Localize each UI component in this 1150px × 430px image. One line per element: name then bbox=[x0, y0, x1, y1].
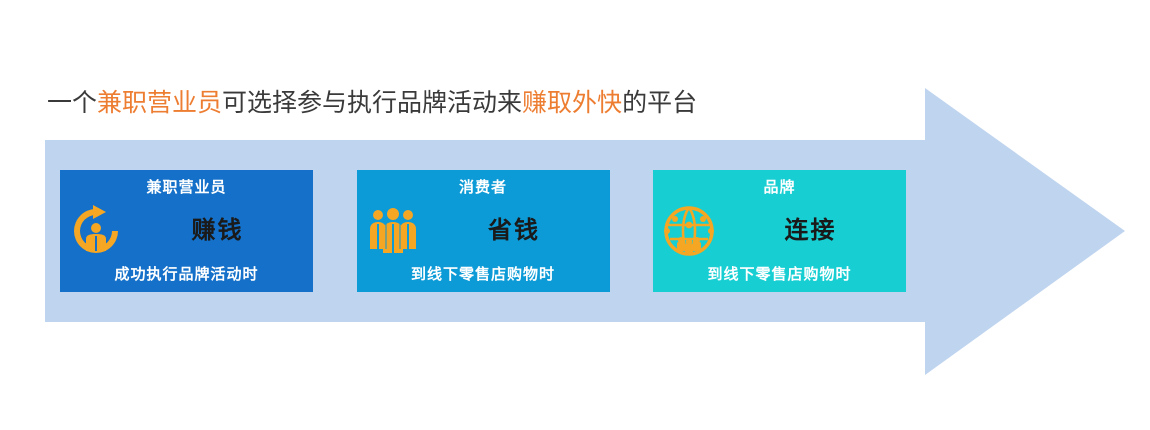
card-main-label: 赚钱 bbox=[132, 210, 303, 245]
headline-segment-2: 可选择参与执行品牌活动来 bbox=[222, 88, 522, 117]
card-header-label: 品牌 bbox=[653, 176, 906, 197]
card-footer-label: 到线下零售店购物时 bbox=[653, 263, 906, 284]
card-part-time-promoter[interactable]: 兼职营业员 赚钱 成功执行品牌活动时 bbox=[60, 170, 313, 292]
card-header-label: 兼职营业员 bbox=[60, 176, 313, 197]
headline-segment-4: 的平台 bbox=[622, 88, 697, 117]
card-header-label: 消费者 bbox=[357, 176, 610, 197]
headline-segment-1-highlight: 兼职营业员 bbox=[97, 88, 222, 117]
headline-segment-3-highlight: 赚取外快 bbox=[522, 88, 622, 117]
card-main-label: 连接 bbox=[725, 210, 896, 245]
card-footer-label: 成功执行品牌活动时 bbox=[60, 263, 313, 284]
person-refresh-icon bbox=[68, 203, 124, 259]
value-proposition-cards: 兼职营业员 赚钱 成功执行品牌活动时 消费者 bbox=[60, 170, 906, 292]
card-main-label: 省钱 bbox=[429, 210, 600, 245]
people-group-icon bbox=[365, 203, 421, 259]
page-title: 一个兼职营业员可选择参与执行品牌活动来赚取外快的平台 bbox=[47, 86, 697, 120]
card-brand[interactable]: 品牌 bbox=[653, 170, 906, 292]
card-footer-label: 到线下零售店购物时 bbox=[357, 263, 610, 284]
headline-segment-0: 一个 bbox=[47, 88, 97, 117]
globe-network-icon bbox=[661, 203, 717, 259]
card-consumer[interactable]: 消费者 省钱 到线下零售店购物时 bbox=[357, 170, 610, 292]
